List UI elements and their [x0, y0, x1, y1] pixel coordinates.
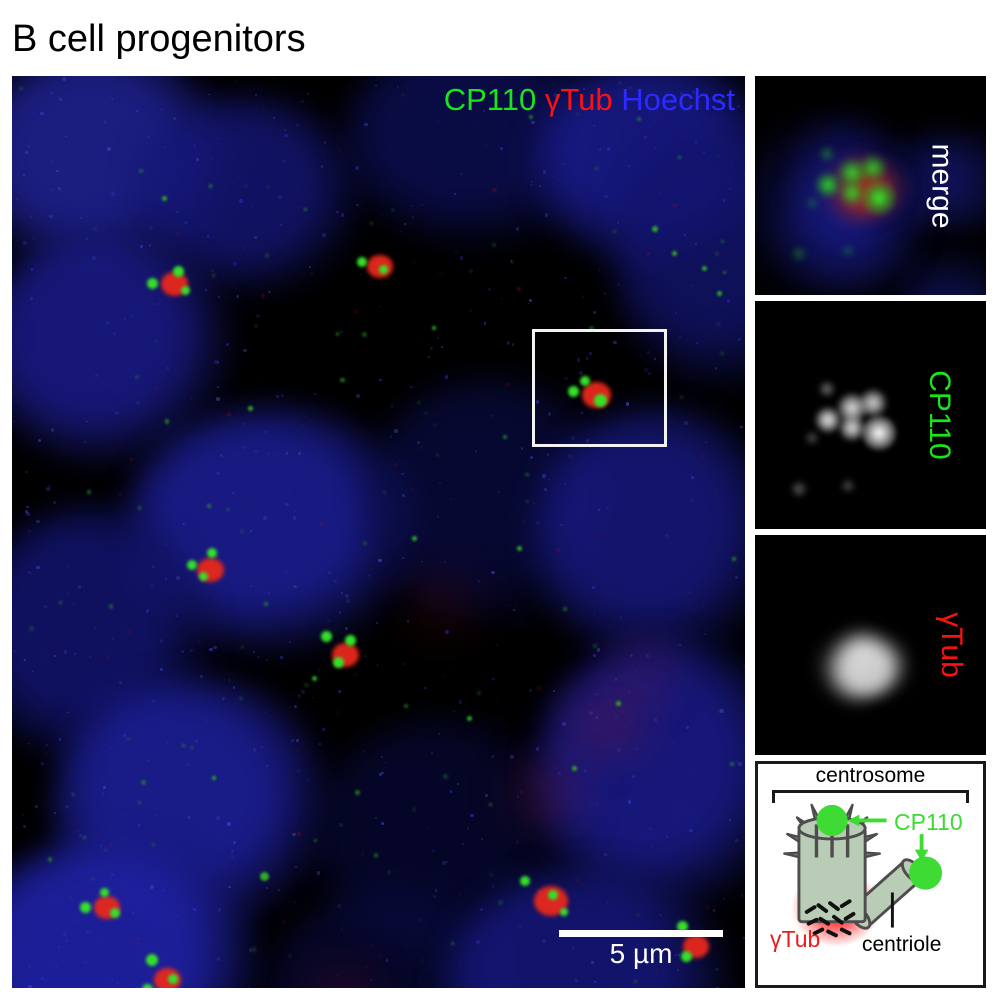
cp110-punctum	[100, 888, 109, 897]
cp110-punctum	[345, 635, 356, 646]
cp110-punctum	[187, 560, 197, 570]
scalebar-label: 5 µm	[559, 939, 723, 970]
panel-cp110[interactable]: CP110	[755, 301, 986, 529]
cp110-punctum	[207, 548, 217, 558]
channel-legend: CP110 γTub Hoechst	[444, 84, 735, 115]
inset-cp110-punctum	[861, 180, 897, 216]
cp110-punctum	[142, 984, 153, 988]
inset-gtub-punctum	[851, 653, 895, 697]
cp110-punctum	[181, 286, 190, 295]
inset-cp110-punctum	[859, 154, 887, 182]
cp110-punctum	[80, 902, 91, 913]
cp110-punctum	[147, 278, 158, 289]
legend-gtub: γTub	[545, 82, 613, 117]
roi-selection-box[interactable]	[532, 329, 667, 447]
cp110-punctum	[168, 974, 178, 984]
cp110-punctum	[520, 876, 530, 886]
scalebar: 5 µm	[559, 930, 723, 970]
schematic-label-centriole: centriole	[862, 934, 941, 955]
panel-cp110-label: CP110	[924, 370, 954, 460]
cp110-punctum	[379, 265, 388, 274]
panel-gtub[interactable]: γTub	[755, 535, 986, 755]
panel-merge[interactable]: merge	[755, 76, 986, 295]
inset-cp110-punctum	[861, 415, 897, 451]
inset-cp110-punctum	[805, 431, 819, 445]
inset-cp110-punctum	[819, 381, 835, 397]
cp110-punctum	[548, 890, 558, 900]
centrosome-schematic-panel: centrosome	[755, 761, 986, 988]
scalebar-line	[559, 930, 723, 937]
cp110-punctum	[560, 908, 568, 916]
inset-cp110-punctum	[805, 196, 819, 210]
cp110-punctum	[199, 572, 208, 581]
legend-hoechst: Hoechst	[621, 82, 735, 117]
cp110-punctum	[333, 657, 344, 668]
inset-cp110-punctum	[859, 389, 887, 417]
inset-cp110-punctum	[791, 246, 807, 262]
inset-cp110-punctum	[791, 481, 807, 497]
legend-cp110: CP110	[444, 82, 537, 117]
panel-merge-label: merge	[926, 143, 956, 228]
cp110-punctum	[110, 908, 120, 918]
centrosome-puncta-layer	[12, 76, 745, 988]
cp110-dot-daughter	[909, 856, 942, 889]
cp110-punctum	[173, 266, 184, 277]
cp110-dot-mother	[816, 805, 847, 836]
schematic-label-gtub: γTub	[770, 928, 820, 951]
cp110-punctum	[321, 631, 332, 642]
panel-gtub-label: γTub	[936, 612, 966, 678]
inset-cp110-punctum	[841, 244, 855, 258]
main-micrograph-panel[interactable]: CP110 γTub Hoechst 5 µm	[12, 76, 745, 988]
cp110-punctum	[146, 954, 158, 966]
cp110-punctum	[357, 257, 367, 267]
page-title: B cell progenitors	[12, 20, 306, 58]
schematic-label-cp110: CP110	[894, 811, 963, 834]
inset-cp110-punctum	[819, 146, 835, 162]
inset-cp110-punctum	[841, 479, 855, 493]
